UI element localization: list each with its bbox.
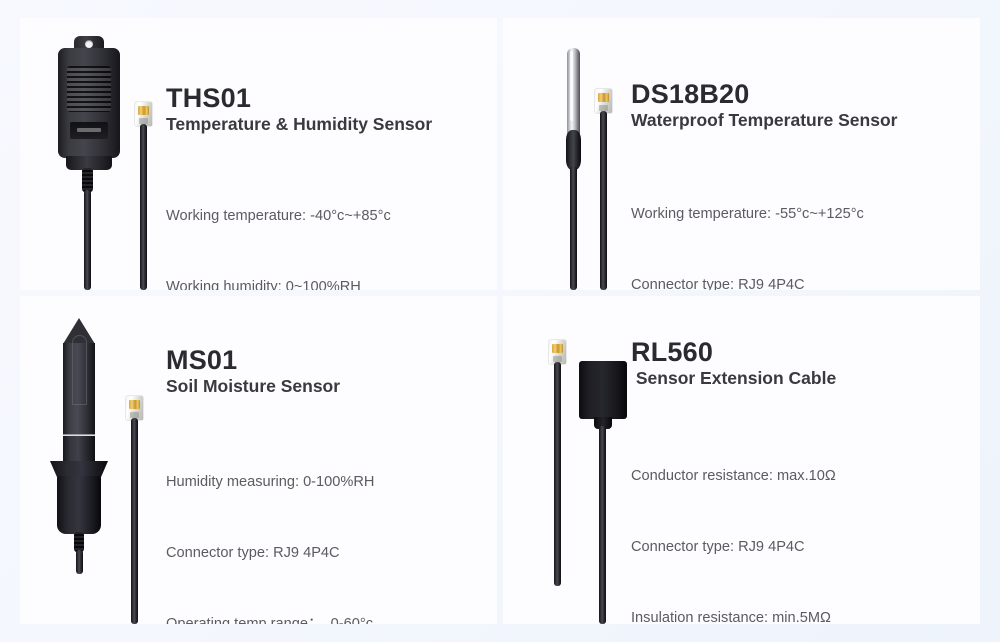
spec-line: Humidity measuring: 0-100%RH [166, 471, 489, 495]
product-info-ms01: MS01 Soil Moisture Sensor Humidity measu… [166, 346, 489, 624]
product-specs: Humidity measuring: 0-100%RH Connector t… [166, 424, 489, 624]
spec-line: Conductor resistance: max.10Ω [631, 465, 972, 489]
product-info-ths01: THS01 Temperature & Humidity Sensor Work… [166, 84, 489, 290]
strain-relief [82, 168, 93, 192]
probe-seam [63, 434, 95, 436]
sensor-cable [570, 166, 577, 290]
sensor-cable [76, 550, 83, 574]
connector-cable [131, 418, 138, 624]
socket-cable [599, 426, 606, 624]
brand-label [70, 122, 108, 139]
probe-neck [63, 436, 95, 464]
product-panel-ds18b20[interactable]: DS18B20 Waterproof Temperature Sensor Wo… [503, 18, 980, 290]
product-specs: Working temperature: -40°c~+85°c Working… [166, 158, 489, 290]
product-image-ths01 [20, 18, 170, 290]
spec-line: Connector type: RJ9 4P4C [631, 536, 972, 560]
rj9-connector-icon [595, 89, 612, 113]
rj9-connector-icon [549, 340, 566, 364]
probe-boot [566, 130, 581, 170]
spec-line: Operating temp.range： 0-60°c [166, 613, 489, 624]
spec-line: Working temperature: -40°c~+85°c [166, 205, 489, 229]
product-specs: Conductor resistance: max.10Ω Connector … [631, 418, 972, 624]
product-title: THS01 [166, 84, 489, 113]
spec-line: Insulation resistance: min.5MΩ [631, 607, 972, 624]
connector-cable [600, 111, 607, 290]
product-panel-ms01[interactable]: MS01 Soil Moisture Sensor Humidity measu… [20, 296, 497, 624]
spec-line: Working temperature: -55°c~+125°c [631, 203, 972, 227]
product-panel-ths01[interactable]: THS01 Temperature & Humidity Sensor Work… [20, 18, 497, 290]
product-subtitle: Waterproof Temperature Sensor [631, 109, 972, 133]
probe-shoulder [50, 461, 108, 477]
product-grid: THS01 Temperature & Humidity Sensor Work… [20, 18, 980, 624]
spec-line: Connector type: RJ9 4P4C [166, 542, 489, 566]
spec-line: Connector type: RJ9 4P4C [631, 274, 972, 290]
probe-shaft [63, 343, 95, 435]
sensor-cable [84, 190, 91, 290]
probe-groove [72, 335, 87, 405]
rj9-connector-icon [135, 102, 152, 126]
product-info-ds18b20: DS18B20 Waterproof Temperature Sensor Wo… [631, 80, 972, 290]
probe-housing [57, 476, 101, 534]
product-title: DS18B20 [631, 80, 972, 109]
product-subtitle: Sensor Extension Cable [631, 367, 972, 391]
sensor-body [58, 48, 120, 158]
spec-line: Working humidity: 0~100%RH [166, 276, 489, 290]
product-subtitle: Temperature & Humidity Sensor [166, 113, 489, 137]
product-title: MS01 [166, 346, 489, 375]
product-title: RL560 [631, 338, 972, 367]
product-specs: Working temperature: -55°c~+125°c Connec… [631, 156, 972, 290]
plug-cable [554, 362, 561, 586]
steel-probe [567, 48, 580, 134]
vent-grille-icon [67, 66, 111, 112]
connector-cable [140, 124, 147, 290]
product-image-ms01 [20, 296, 170, 624]
product-subtitle: Soil Moisture Sensor [166, 375, 489, 399]
strain-relief [74, 532, 84, 552]
product-panel-rl560[interactable]: RL560 Sensor Extension Cable Conductor r… [503, 296, 980, 624]
rj9-connector-icon [126, 396, 143, 420]
extension-socket [579, 361, 627, 419]
product-info-rl560: RL560 Sensor Extension Cable Conductor r… [631, 338, 972, 624]
